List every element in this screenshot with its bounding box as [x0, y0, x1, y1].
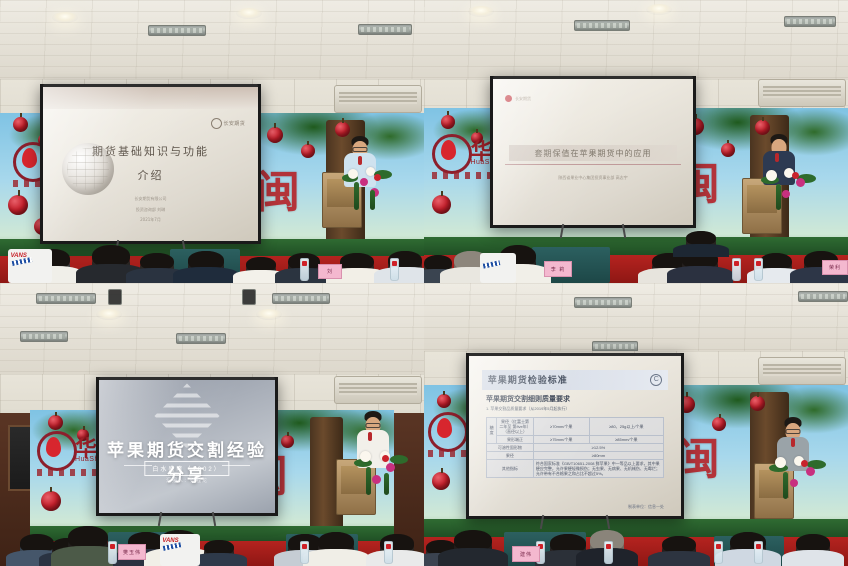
- downlight: [96, 309, 122, 320]
- screen-tripod: [108, 240, 194, 254]
- vine: [370, 190, 375, 210]
- photo-top-left: 闽 华圣 HuaSheng 长安期货: [0, 0, 424, 283]
- red-flower: [801, 460, 808, 467]
- red-flower: [382, 455, 389, 462]
- screen-glare: [99, 380, 275, 513]
- photo-bottom-right: 闽 华圣 HuaSheng 苹果期货检验标准 C 苹果期货交割细则质量要求 1.…: [424, 283, 848, 566]
- logo-droplet-icon: [46, 437, 61, 457]
- backdrop-apple: [8, 195, 28, 215]
- flower-arrangement: [340, 166, 392, 210]
- pink-flower: [790, 479, 798, 487]
- vine: [366, 467, 371, 495]
- vine: [783, 472, 788, 499]
- air-conditioner: [758, 79, 846, 107]
- projection-screen: 长安期货 套期保值在苹果期货中的应用 陕西省果业中心集团投资事业部 高志宇: [490, 76, 696, 228]
- projection-screen: 长安期货 期货基础知识与功能 介绍 长安期货有限公司 投资咨询部 刘琳 2021…: [40, 84, 261, 244]
- screen-tripod: [533, 515, 618, 529]
- white-flower: [348, 169, 358, 179]
- pink-flower: [372, 475, 381, 484]
- projector-mount: [242, 289, 256, 305]
- ceiling: [0, 283, 424, 379]
- photo-top-right: 闽 华圣 HuaSheng 长安期货 套期保值在苹果期货中的应用: [424, 0, 848, 283]
- speaker-glasses: [366, 423, 381, 428]
- ceiling-light-fixture: [20, 331, 68, 342]
- ceiling-light-fixture: [148, 25, 206, 36]
- screen-surface: 苹果期货交割经验分享 白水盛隆（1802） 汇报人：师程龙: [99, 380, 275, 513]
- ceiling-light-fixture: [574, 297, 632, 308]
- speaker-glasses: [353, 147, 368, 152]
- backdrop-apple: [432, 195, 451, 214]
- photo-bottom-left: 闽 华圣 HuaSheng 苹果期货交割经验分享 白水盛隆（1802） 汇报人：…: [0, 283, 424, 566]
- projector-mount: [108, 289, 122, 305]
- stage-carpet: [0, 256, 424, 283]
- screen-surface: 长安期货 期货基础知识与功能 介绍 长安期货有限公司 投资咨询部 刘琳 2021…: [43, 87, 258, 241]
- microphone: [791, 438, 795, 447]
- pink-flower: [796, 178, 805, 187]
- stage-carpet: [424, 255, 848, 283]
- pink-flower: [806, 467, 815, 476]
- logo-droplet-icon: [22, 148, 37, 168]
- vine: [384, 473, 389, 495]
- pink-flower: [386, 463, 395, 472]
- backdrop-apple: [41, 491, 61, 511]
- vine: [776, 184, 781, 210]
- flower-arrangement: [352, 449, 408, 497]
- air-conditioner: [758, 357, 846, 385]
- white-flower: [766, 170, 777, 181]
- backdrop-apple: [301, 144, 315, 158]
- ceiling-light-fixture: [574, 20, 630, 31]
- ceiling: [424, 283, 848, 357]
- screen-surface: 长安期货 套期保值在苹果期货中的应用 陕西省果业中心集团投资事业部 高志宇: [493, 79, 693, 225]
- flower-arrangement: [760, 168, 816, 212]
- downlight: [52, 12, 78, 23]
- backdrop-apple: [335, 122, 350, 137]
- ceiling-light-fixture: [176, 333, 226, 344]
- stage-carpet: [424, 537, 848, 566]
- pink-flower: [360, 178, 368, 186]
- ceiling-light-fixture: [798, 291, 848, 302]
- ceiling: [0, 0, 424, 85]
- ceiling-light-fixture: [272, 293, 330, 304]
- red-flower: [374, 174, 381, 181]
- air-conditioner: [334, 376, 422, 404]
- pink-flower: [782, 190, 790, 198]
- screen-glare: [43, 87, 258, 241]
- backdrop-apple: [437, 394, 451, 408]
- microphone: [368, 432, 372, 441]
- downlight: [646, 4, 672, 15]
- downlight: [236, 8, 262, 19]
- ceiling-light-fixture: [36, 293, 96, 304]
- screen-glare: [469, 356, 681, 516]
- screen-surface: 苹果期货检验标准 C 苹果期货交割细则质量要求 1. 苹果交割品质量要求（从20…: [469, 356, 681, 516]
- flower-arrangement: [768, 455, 826, 501]
- white-flower: [775, 457, 786, 468]
- red-flower: [792, 172, 799, 179]
- speaker-glasses: [786, 429, 801, 434]
- vine: [354, 182, 359, 210]
- ceiling-light-fixture: [784, 16, 836, 27]
- photo-collage: 闽 华圣 HuaSheng 长安期货: [0, 0, 848, 566]
- downlight: [256, 309, 282, 320]
- backdrop-apple: [13, 117, 28, 132]
- backdrop-apple: [48, 415, 63, 430]
- projection-screen: 苹果期货检验标准 C 苹果期货交割细则质量要求 1. 苹果交割品质量要求（从20…: [466, 353, 684, 519]
- screen-glare: [493, 79, 693, 225]
- microphone: [358, 156, 362, 165]
- microphone: [775, 153, 779, 162]
- ceiling-light-fixture: [358, 24, 412, 35]
- white-flower: [360, 451, 371, 462]
- screen-tripod: [553, 224, 633, 238]
- downlight: [468, 6, 494, 17]
- ceiling: [424, 0, 848, 85]
- backdrop-apple: [267, 127, 283, 143]
- logo-droplet-icon: [437, 418, 452, 438]
- backdrop-apple: [755, 120, 770, 135]
- air-conditioner: [334, 85, 422, 113]
- projection-screen: 苹果期货交割经验分享 白水盛隆（1802） 汇报人：师程龙: [96, 377, 278, 516]
- backdrop-apple: [441, 115, 455, 129]
- screen-tripod: [152, 512, 222, 526]
- backdrop-apple: [432, 472, 450, 490]
- stage-carpet: [30, 541, 395, 566]
